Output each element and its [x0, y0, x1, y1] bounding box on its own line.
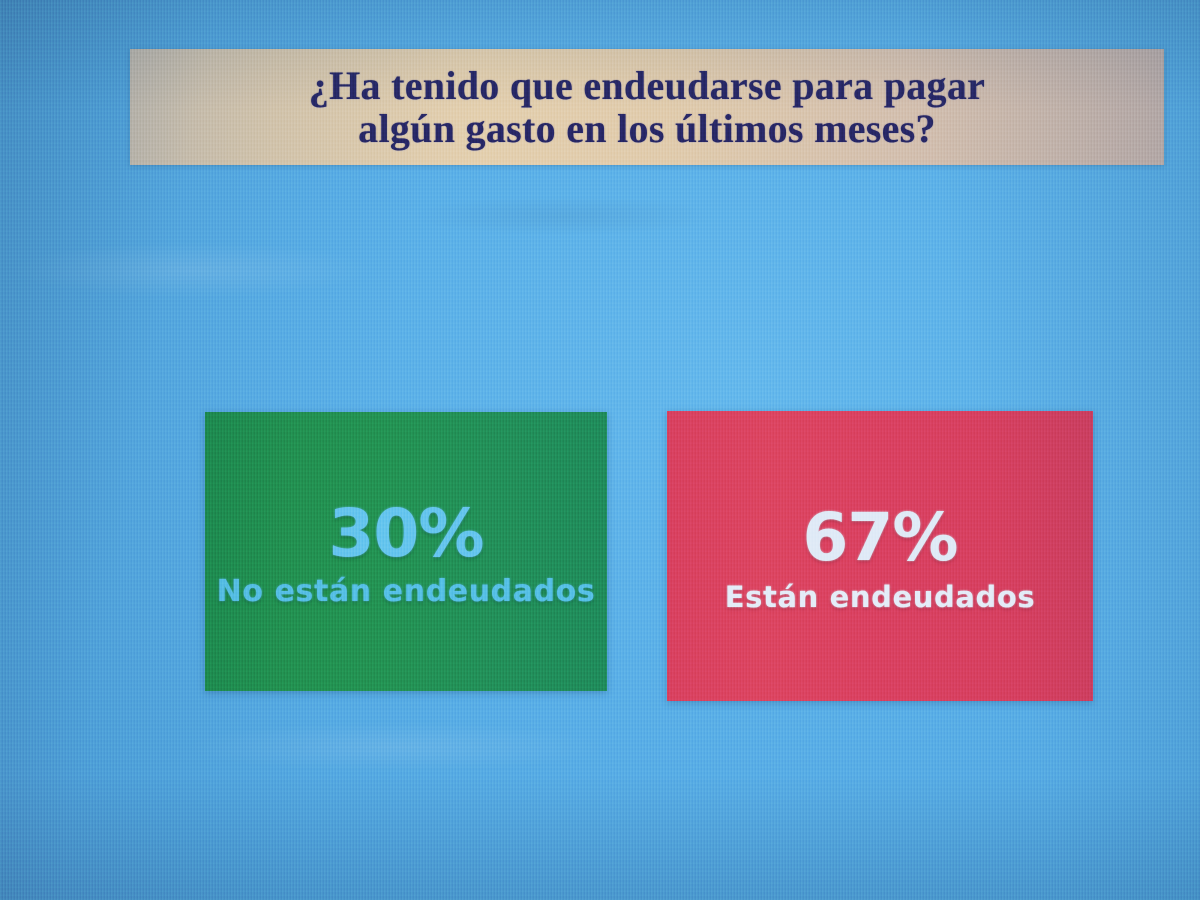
stat-label-not-indebted: No están endeudados: [217, 574, 596, 609]
stat-value-indebted: 67%: [803, 499, 958, 576]
page-title: ¿Ha tenido que endeudarse para pagar alg…: [151, 64, 1144, 150]
stat-card-indebted: 67% Están endeudados: [667, 411, 1093, 701]
title-line-1: ¿Ha tenido que endeudarse para pagar: [309, 63, 985, 108]
stat-label-indebted: Están endeudados: [725, 580, 1036, 614]
stat-card-not-indebted: 30% No están endeudados: [205, 412, 607, 691]
title-line-2: algún gasto en los últimos meses?: [358, 106, 936, 151]
slide-stage: ¿Ha tenido que endeudarse para pagar alg…: [0, 0, 1200, 900]
stat-value-not-indebted: 30%: [329, 495, 484, 572]
question-title-band: ¿Ha tenido que endeudarse para pagar alg…: [130, 49, 1164, 165]
